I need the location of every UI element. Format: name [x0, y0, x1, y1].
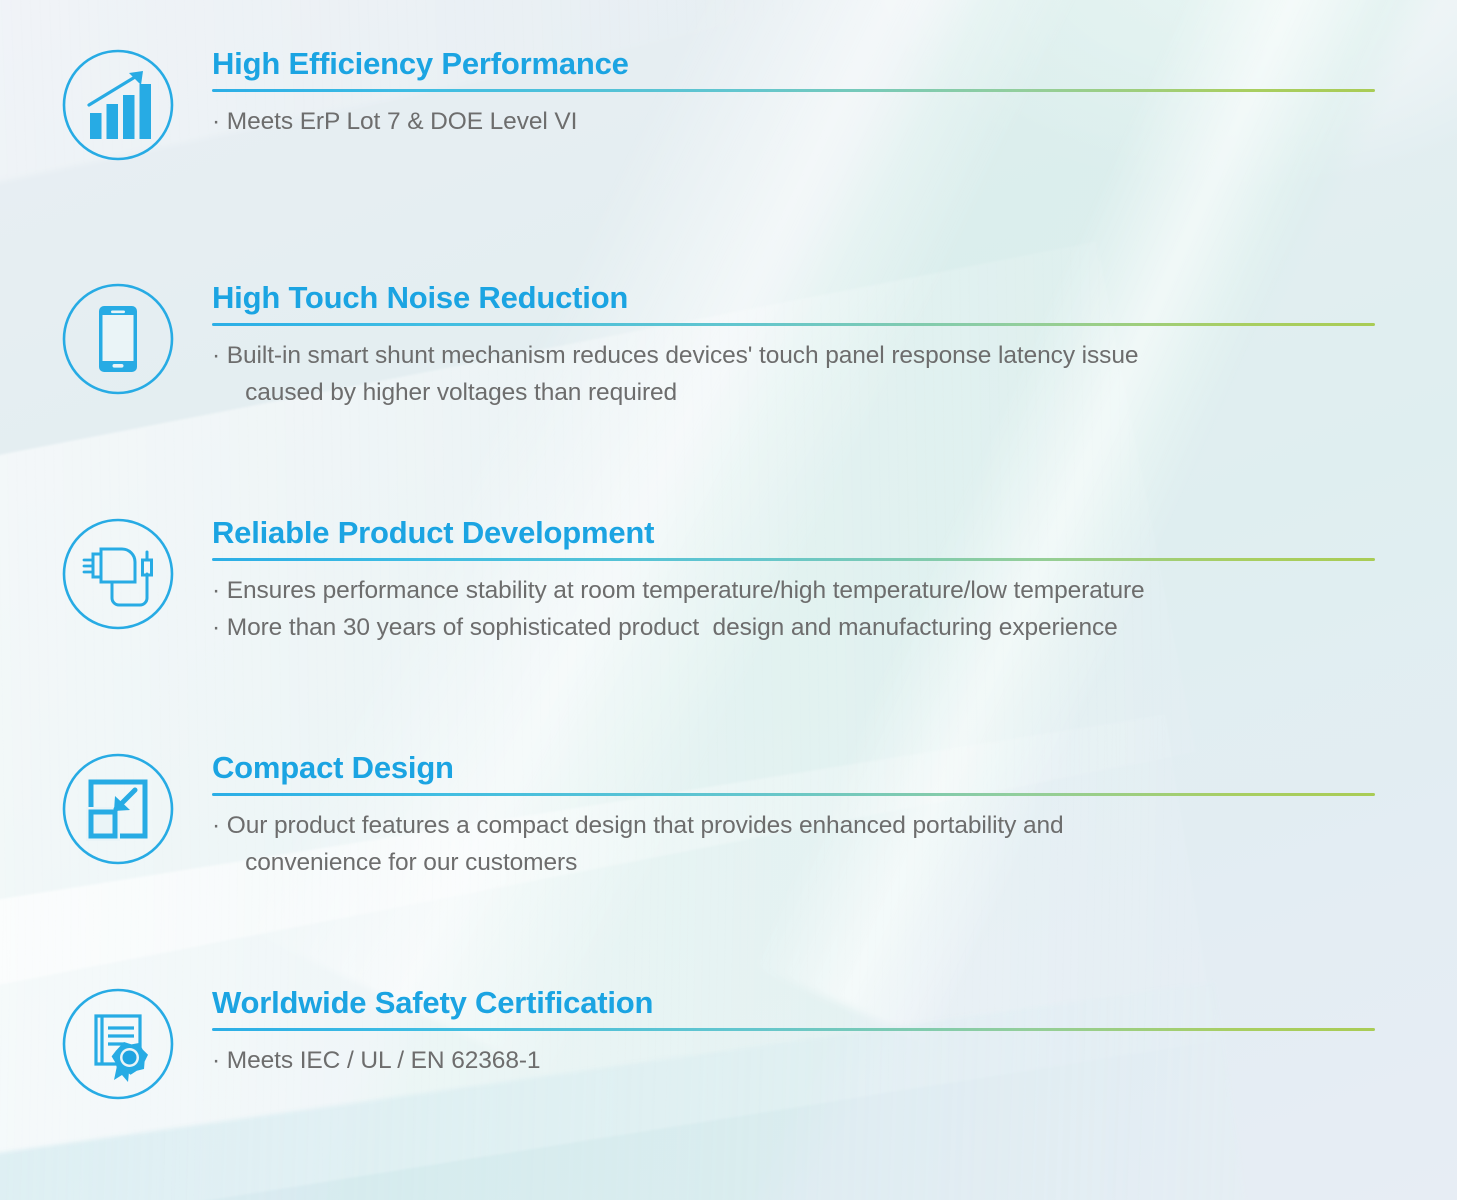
feature-divider [212, 323, 1375, 326]
feature-divider [212, 558, 1375, 561]
feature-title: High Efficiency Performance [212, 47, 1375, 82]
feature-bullet: · Ensures performance stability at room … [212, 572, 1375, 609]
feature-bullet: · Our product features a compact design … [212, 807, 1375, 881]
feature-bullet: · Meets ErP Lot 7 & DOE Level VI [212, 103, 1375, 140]
feature-item-reliable-product-development: Reliable Product Development · Ensures p… [0, 516, 1457, 646]
bar-chart-up-icon [60, 47, 176, 163]
feature-bullet-list: · Our product features a compact design … [212, 807, 1375, 881]
feature-bullet: · Meets IEC / UL / EN 62368-1 [212, 1042, 1375, 1079]
feature-icon-container [56, 986, 180, 1102]
smartphone-icon [60, 281, 176, 397]
feature-text-block: Compact Design · Our product features a … [212, 751, 1457, 881]
feature-icon-container [56, 751, 180, 867]
feature-title: Compact Design [212, 751, 1375, 786]
feature-item-high-efficiency-performance: High Efficiency Performance · Meets ErP … [0, 47, 1457, 163]
feature-bullet-list: · Ensures performance stability at room … [212, 572, 1375, 646]
feature-item-worldwide-safety-certification: Worldwide Safety Certification · Meets I… [0, 986, 1457, 1102]
feature-text-block: Worldwide Safety Certification · Meets I… [212, 986, 1457, 1079]
feature-divider [212, 1028, 1375, 1031]
feature-title: High Touch Noise Reduction [212, 281, 1375, 316]
feature-text-block: High Efficiency Performance · Meets ErP … [212, 47, 1457, 140]
feature-title: Reliable Product Development [212, 516, 1375, 551]
feature-list-page: High Efficiency Performance · Meets ErP … [0, 0, 1457, 1200]
compact-resize-icon [60, 751, 176, 867]
feature-item-high-touch-noise-reduction: High Touch Noise Reduction · Built-in sm… [0, 281, 1457, 411]
feature-text-block: Reliable Product Development · Ensures p… [212, 516, 1457, 646]
feature-divider [212, 89, 1375, 92]
feature-bullet: · Built-in smart shunt mechanism reduces… [212, 337, 1375, 411]
feature-icon-container [56, 47, 180, 163]
feature-bullet-list: · Built-in smart shunt mechanism reduces… [212, 337, 1375, 411]
feature-text-block: High Touch Noise Reduction · Built-in sm… [212, 281, 1457, 411]
feature-bullet-list: · Meets ErP Lot 7 & DOE Level VI [212, 103, 1375, 140]
feature-title: Worldwide Safety Certification [212, 986, 1375, 1021]
certificate-seal-icon [60, 986, 176, 1102]
feature-bullet: · More than 30 years of sophisticated pr… [212, 609, 1375, 646]
power-adapter-icon [60, 516, 176, 632]
feature-icon-container [56, 516, 180, 632]
feature-bullet-list: · Meets IEC / UL / EN 62368-1 [212, 1042, 1375, 1079]
feature-divider [212, 793, 1375, 796]
feature-icon-container [56, 281, 180, 397]
feature-item-compact-design: Compact Design · Our product features a … [0, 751, 1457, 881]
